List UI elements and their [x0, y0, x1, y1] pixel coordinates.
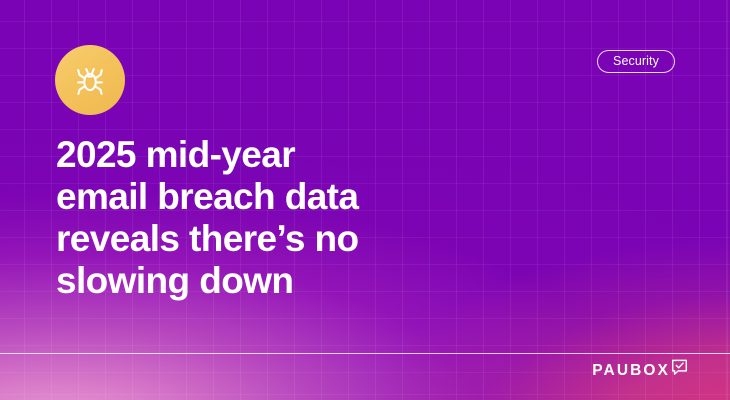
paubox-logo[interactable]: PAUBOX — [592, 360, 688, 382]
headline-line-2: email breach data — [56, 176, 456, 218]
headline-line-1: 2025 mid-year — [56, 134, 456, 176]
headline: 2025 mid-year email breach data reveals … — [56, 134, 456, 302]
article-hero-banner: Security — [0, 0, 730, 400]
headline-line-3: reveals there’s no — [56, 218, 456, 260]
headline-line-4: slowing down — [56, 260, 456, 302]
category-badge-label: Security — [613, 55, 659, 68]
footer-divider — [0, 353, 730, 354]
envelope-check-icon — [671, 359, 688, 376]
category-badge[interactable]: Security — [597, 50, 675, 73]
bug-icon — [71, 61, 109, 99]
topic-icon-circle — [55, 45, 125, 115]
paubox-wordmark: PAUBOX — [592, 360, 670, 382]
